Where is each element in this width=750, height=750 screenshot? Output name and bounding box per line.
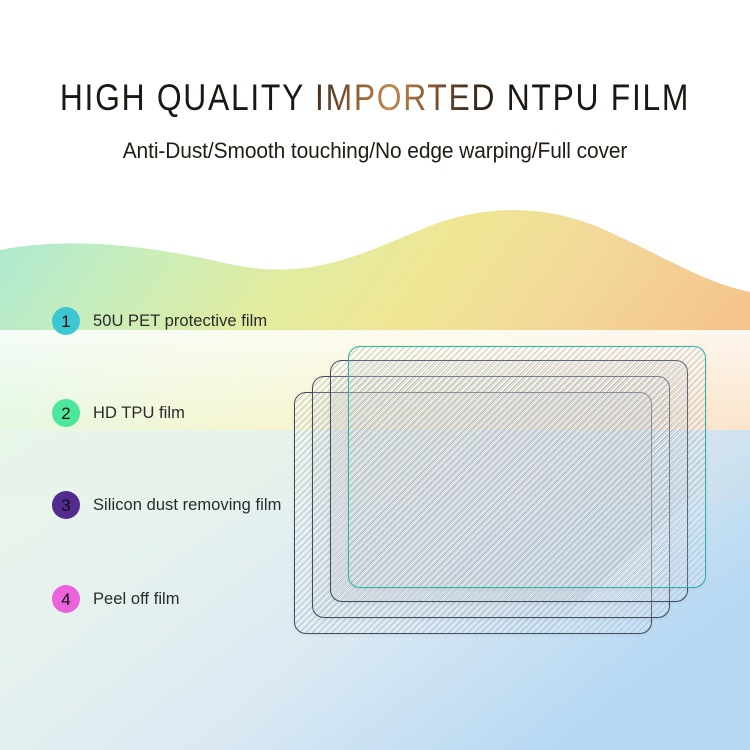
number-badge-2: 2 [52, 399, 80, 427]
page-title-accent: IMPORTED [315, 77, 496, 118]
feature-label-1: 50U PET protective film [93, 312, 267, 331]
product-infographic-poster: HIGH QUALITY IMPORTED NTPU FILM Anti-Dus… [0, 0, 750, 750]
list-item: 3 Silicon dust removing film [52, 488, 281, 522]
feature-label-2: HD TPU film [93, 404, 185, 423]
page-subtitle: Anti-Dust/Smooth touching/No edge warpin… [26, 136, 724, 166]
page-title-part-1: HIGH QUALITY [60, 77, 315, 118]
number-badge-1: 1 [52, 307, 80, 335]
header: HIGH QUALITY IMPORTED NTPU FILM Anti-Dus… [0, 0, 750, 200]
page-title: HIGH QUALITY IMPORTED NTPU FILM [53, 76, 698, 120]
number-badge-3: 3 [52, 491, 80, 519]
film-layer-1 [348, 346, 706, 588]
page-title-part-2: NTPU FILM [496, 77, 690, 118]
feature-label-4: Peel off film [93, 590, 180, 609]
list-item: 4 Peel off film [52, 582, 180, 616]
feature-label-3: Silicon dust removing film [93, 496, 281, 515]
list-item: 1 50U PET protective film [52, 304, 267, 338]
stacked-film-layers-illustration [290, 338, 710, 650]
number-badge-4: 4 [52, 585, 80, 613]
list-item: 2 HD TPU film [52, 396, 185, 430]
